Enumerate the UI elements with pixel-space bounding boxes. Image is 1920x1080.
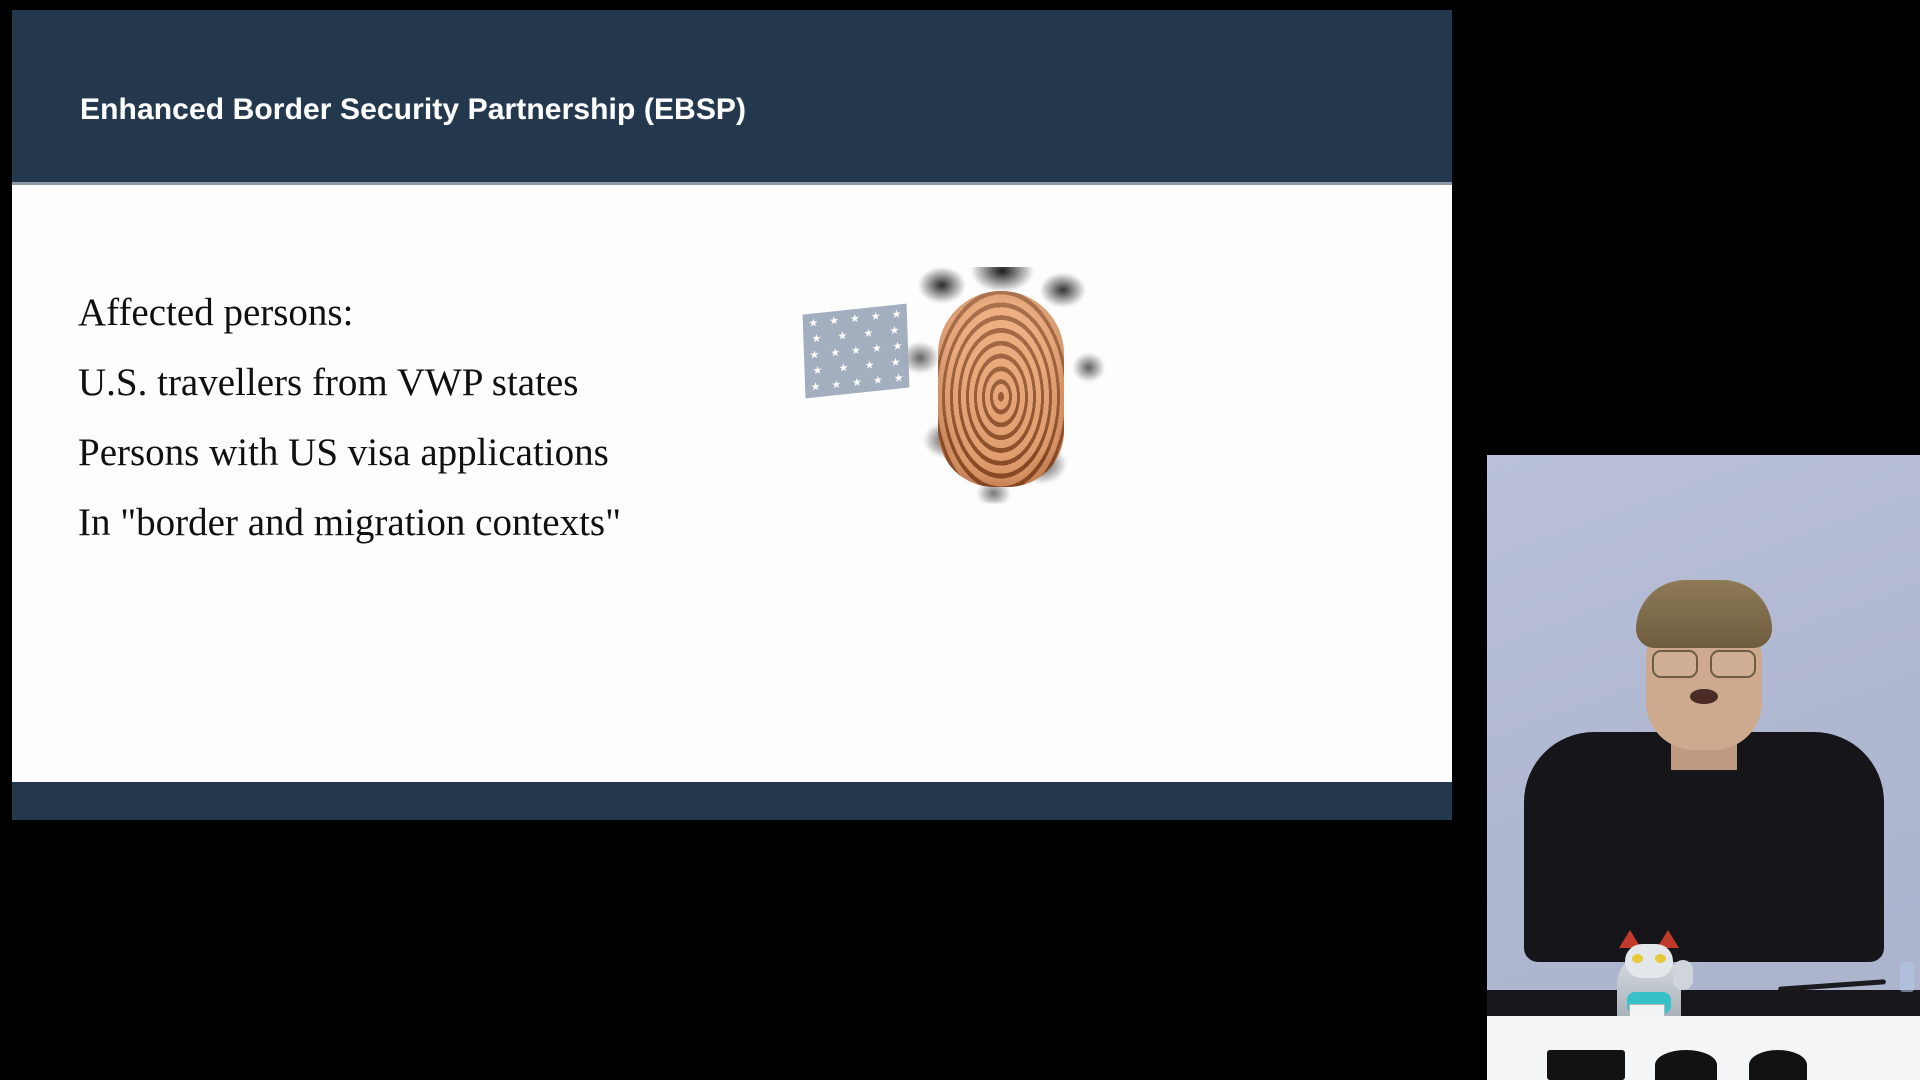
slide-body: Affected persons: U.S. travellers from V… — [12, 185, 1452, 782]
star-icon: ★ — [889, 325, 899, 337]
star-icon: ★ — [863, 328, 873, 340]
speaker-mouth — [1690, 689, 1718, 704]
bullet-line: Affected persons: — [78, 278, 838, 348]
star-icon: ★ — [809, 350, 819, 362]
slide-bullet-list: Affected persons: U.S. travellers from V… — [78, 278, 838, 558]
lectern-logo-mark — [1749, 1050, 1807, 1080]
flag-canton-stars: ★★★★★ ★★★★ ★★★★★ ★★★★ ★★★★★ ★★★★ — [803, 304, 910, 399]
star-icon: ★ — [808, 318, 818, 330]
star-icon: ★ — [892, 341, 902, 353]
star-icon: ★ — [810, 382, 820, 394]
star-icon: ★ — [872, 343, 882, 355]
star-icon: ★ — [850, 314, 860, 326]
star-icon: ★ — [871, 311, 881, 323]
lectern-front-panel — [1487, 1016, 1920, 1080]
cat-raised-paw — [1673, 960, 1693, 990]
cat-face — [1625, 944, 1673, 978]
star-icon: ★ — [864, 360, 874, 372]
presenter-camera-feed — [1487, 455, 1920, 1080]
star-icon: ★ — [831, 380, 841, 392]
star-icon: ★ — [852, 377, 862, 389]
star-icon: ★ — [894, 373, 904, 385]
bullet-line: In "border and migration contexts" — [78, 488, 838, 558]
presentation-slide: Enhanced Border Security Partnership (EB… — [12, 10, 1452, 820]
star-icon: ★ — [873, 375, 883, 387]
star-icon: ★ — [890, 357, 900, 369]
star-icon: ★ — [891, 309, 901, 321]
star-icon: ★ — [851, 345, 861, 357]
water-bottle — [1900, 962, 1914, 992]
bullet-line: Persons with US visa applications — [78, 418, 838, 488]
podium-surface — [1487, 990, 1920, 1016]
lectern-logo-mark — [1547, 1050, 1625, 1080]
screen-capture: Enhanced Border Security Partnership (EB… — [0, 0, 1920, 1080]
star-icon: ★ — [837, 331, 847, 343]
star-icon: ★ — [811, 334, 821, 346]
bullet-line: U.S. travellers from VWP states — [78, 348, 838, 418]
lectern-logo-mark — [1655, 1050, 1717, 1080]
star-icon: ★ — [812, 366, 822, 378]
star-icon: ★ — [829, 316, 839, 328]
slide-footer-band — [12, 782, 1452, 820]
cat-eye-right — [1655, 954, 1666, 963]
star-icon: ★ — [830, 348, 840, 360]
cat-eye-left — [1632, 954, 1643, 963]
star-icon: ★ — [838, 363, 848, 375]
slide-title: Enhanced Border Security Partnership (EB… — [80, 93, 746, 127]
eyeglasses-icon — [1652, 650, 1756, 674]
us-flag-fingerprint-image: ★★★★★ ★★★★ ★★★★★ ★★★★ ★★★★★ ★★★★ — [794, 267, 1114, 507]
speaker-hair — [1636, 580, 1772, 648]
